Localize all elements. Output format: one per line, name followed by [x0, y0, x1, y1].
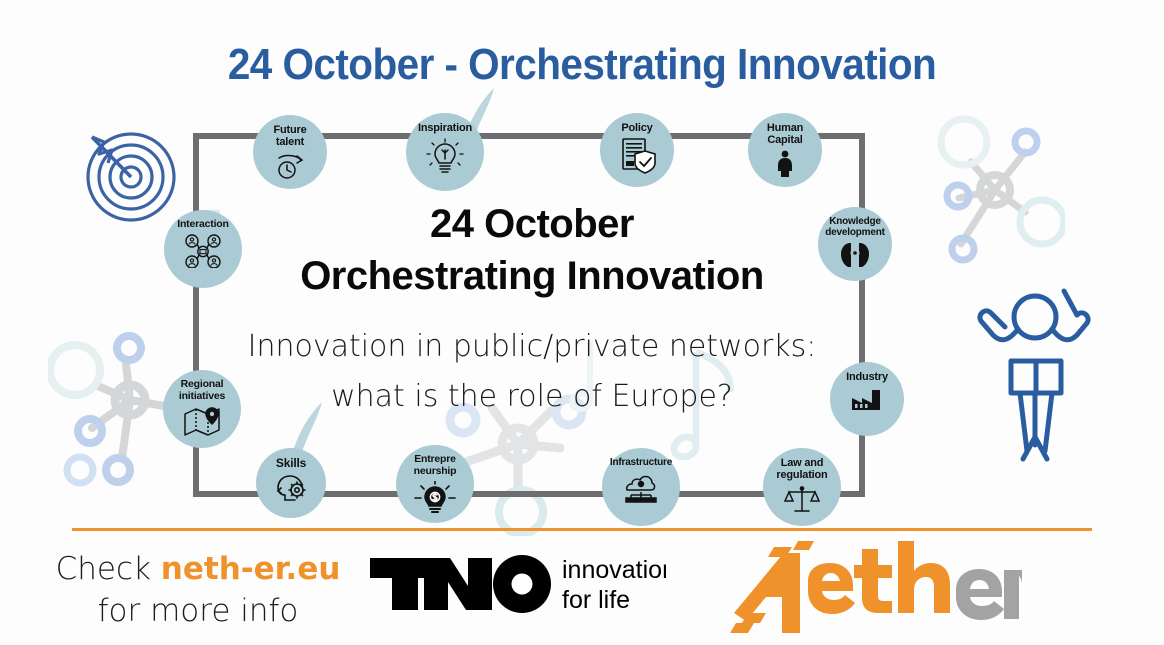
node-human-capital[interactable]: HumanCapital [748, 113, 822, 187]
node-label: Skills [276, 457, 306, 470]
scales-icon [784, 485, 820, 515]
footer-check-text: Check neth-er.eu for more info [48, 548, 348, 632]
node-label: Infrastructure [610, 457, 672, 468]
network-people-icon [183, 234, 223, 268]
footer-divider [72, 528, 1092, 531]
center-subtitle-line-1: Innovation in public/private networks: [232, 322, 832, 372]
clock-arrow-icon [275, 152, 305, 180]
node-label: Futuretalent [273, 124, 306, 149]
page-headline: 24 October - Orchestrating Innovation [47, 40, 1118, 90]
node-entrepreneurship[interactable]: Entrepreneurship [396, 445, 474, 523]
node-label: Interaction [177, 219, 228, 231]
center-title-line-1: 24 October [232, 198, 832, 250]
head-gear-icon [273, 473, 309, 503]
node-industry[interactable]: Industry [830, 362, 904, 436]
node-label: Policy [621, 122, 652, 134]
heads-gear-icon [838, 241, 872, 269]
node-inspiration[interactable]: Inspiration [406, 113, 484, 191]
footer-more-info: for more info [98, 593, 299, 629]
node-label: Regionalinitiatives [179, 379, 225, 403]
footer-check-prefix: Check [56, 551, 161, 587]
target-dartboard-icon [68, 114, 188, 232]
tno-logo-svg: innovation for life [366, 552, 666, 614]
center-text-block: 24 October Orchestrating Innovation Inno… [232, 198, 832, 422]
node-interaction[interactable]: Interaction [164, 210, 242, 288]
cloud-server-icon [621, 471, 661, 503]
node-label: Entrepreneurship [414, 454, 457, 478]
node-law-and-regulation[interactable]: Law andregulation [763, 448, 841, 526]
factory-icon [850, 386, 884, 412]
network-decor-top-right [925, 112, 1065, 272]
node-policy[interactable]: Policy [600, 113, 674, 187]
center-subtitle-line-2: what is the role of Europe? [232, 372, 832, 422]
document-shield-icon [617, 137, 657, 175]
node-label: Inspiration [418, 122, 472, 134]
footer-site-link[interactable]: neth-er.eu [161, 551, 341, 587]
node-label: Industry [846, 371, 888, 383]
person-arms-raised-icon [965, 277, 1105, 467]
map-pin-icon [183, 406, 221, 436]
nether-logo [722, 535, 1022, 645]
node-regional-initiatives[interactable]: Regionalinitiatives [163, 370, 241, 448]
bulb-dollar-icon [413, 481, 457, 515]
node-label: HumanCapital [767, 122, 803, 147]
tno-tagline-1: innovation [562, 556, 666, 584]
node-knowledge-development[interactable]: Knowledgedevelopment [818, 207, 892, 281]
node-label: Law andregulation [776, 457, 827, 482]
slide-canvas: 24 October - Orchestrating Innovation 24… [0, 0, 1164, 645]
node-skills[interactable]: Skills [256, 448, 326, 518]
nether-logo-svg [722, 535, 1022, 640]
tno-logo: innovation for life [366, 552, 666, 619]
node-infrastructure[interactable]: Infrastructure [602, 448, 680, 526]
tno-tagline-2: for life [562, 586, 630, 614]
lightbulb-icon [426, 137, 464, 177]
person-icon [773, 150, 797, 178]
center-title-line-2: Orchestrating Innovation [232, 250, 832, 302]
node-future-talent[interactable]: Futuretalent [253, 115, 327, 189]
node-label: Knowledgedevelopment [825, 216, 884, 238]
